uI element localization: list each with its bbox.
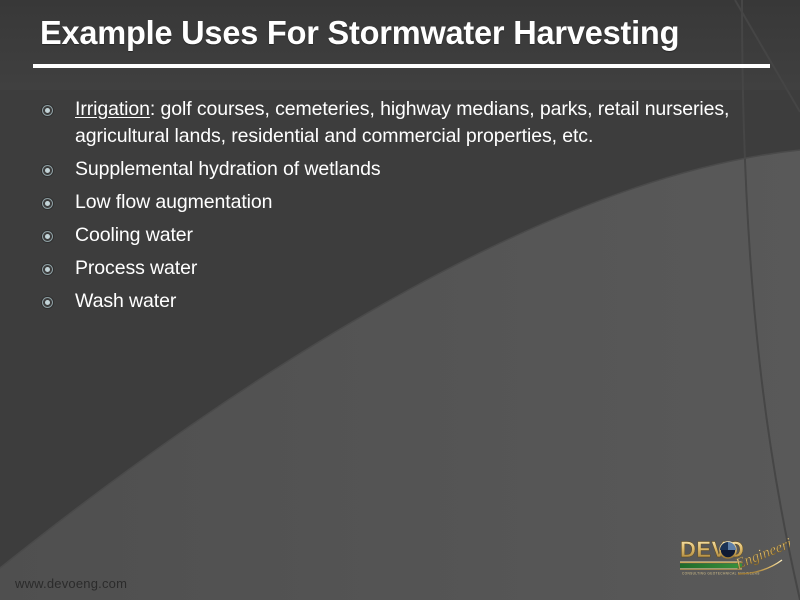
bullet-target-icon bbox=[42, 198, 53, 209]
bullet-target-icon bbox=[42, 297, 53, 308]
list-item: Process water bbox=[0, 255, 760, 282]
bullet-list: Irrigation: golf courses, cemeteries, hi… bbox=[0, 96, 760, 315]
list-item-rest: : golf courses, cemeteries, highway medi… bbox=[75, 98, 729, 147]
list-item: Supplemental hydration of wetlands bbox=[0, 156, 760, 183]
list-item-label: Supplemental hydration of wetlands bbox=[75, 158, 381, 180]
bullet-target-icon bbox=[42, 264, 53, 275]
list-item: Cooling water bbox=[0, 222, 760, 249]
list-item: Low flow augmentation bbox=[0, 189, 760, 216]
list-item: Irrigation: golf courses, cemeteries, hi… bbox=[0, 96, 760, 150]
list-item-label: Irrigation: golf courses, cemeteries, hi… bbox=[75, 98, 729, 147]
bullet-target-icon bbox=[42, 165, 53, 176]
list-item-label: Process water bbox=[75, 257, 197, 279]
logo-green-band bbox=[680, 564, 742, 569]
list-item-label: Low flow augmentation bbox=[75, 191, 272, 213]
page-title: Example Uses For Stormwater Harvesting bbox=[40, 14, 679, 52]
devo-engineering-logo: DEVO CONSULTING GEOTECHNICAL ENGINEERS E… bbox=[678, 533, 790, 585]
bullet-target-icon bbox=[42, 231, 53, 242]
logo-gold-rule bbox=[680, 562, 742, 564]
list-item-lead: Irrigation bbox=[75, 98, 150, 120]
footer-url: www.devoeng.com bbox=[15, 576, 127, 592]
slide-canvas: Example Uses For Stormwater Harvesting I… bbox=[0, 0, 800, 600]
logo-gold-rule-lower bbox=[680, 569, 742, 570]
list-item-label: Cooling water bbox=[75, 224, 193, 246]
logo-svg: DEVO CONSULTING GEOTECHNICAL ENGINEERS E… bbox=[678, 533, 790, 585]
list-item: Wash water bbox=[0, 288, 760, 315]
title-divider bbox=[33, 64, 770, 68]
bullet-target-icon bbox=[42, 105, 53, 116]
title-block: Example Uses For Stormwater Harvesting bbox=[0, 0, 800, 80]
list-item-label: Wash water bbox=[75, 290, 176, 312]
content-body: Irrigation: golf courses, cemeteries, hi… bbox=[0, 96, 760, 321]
